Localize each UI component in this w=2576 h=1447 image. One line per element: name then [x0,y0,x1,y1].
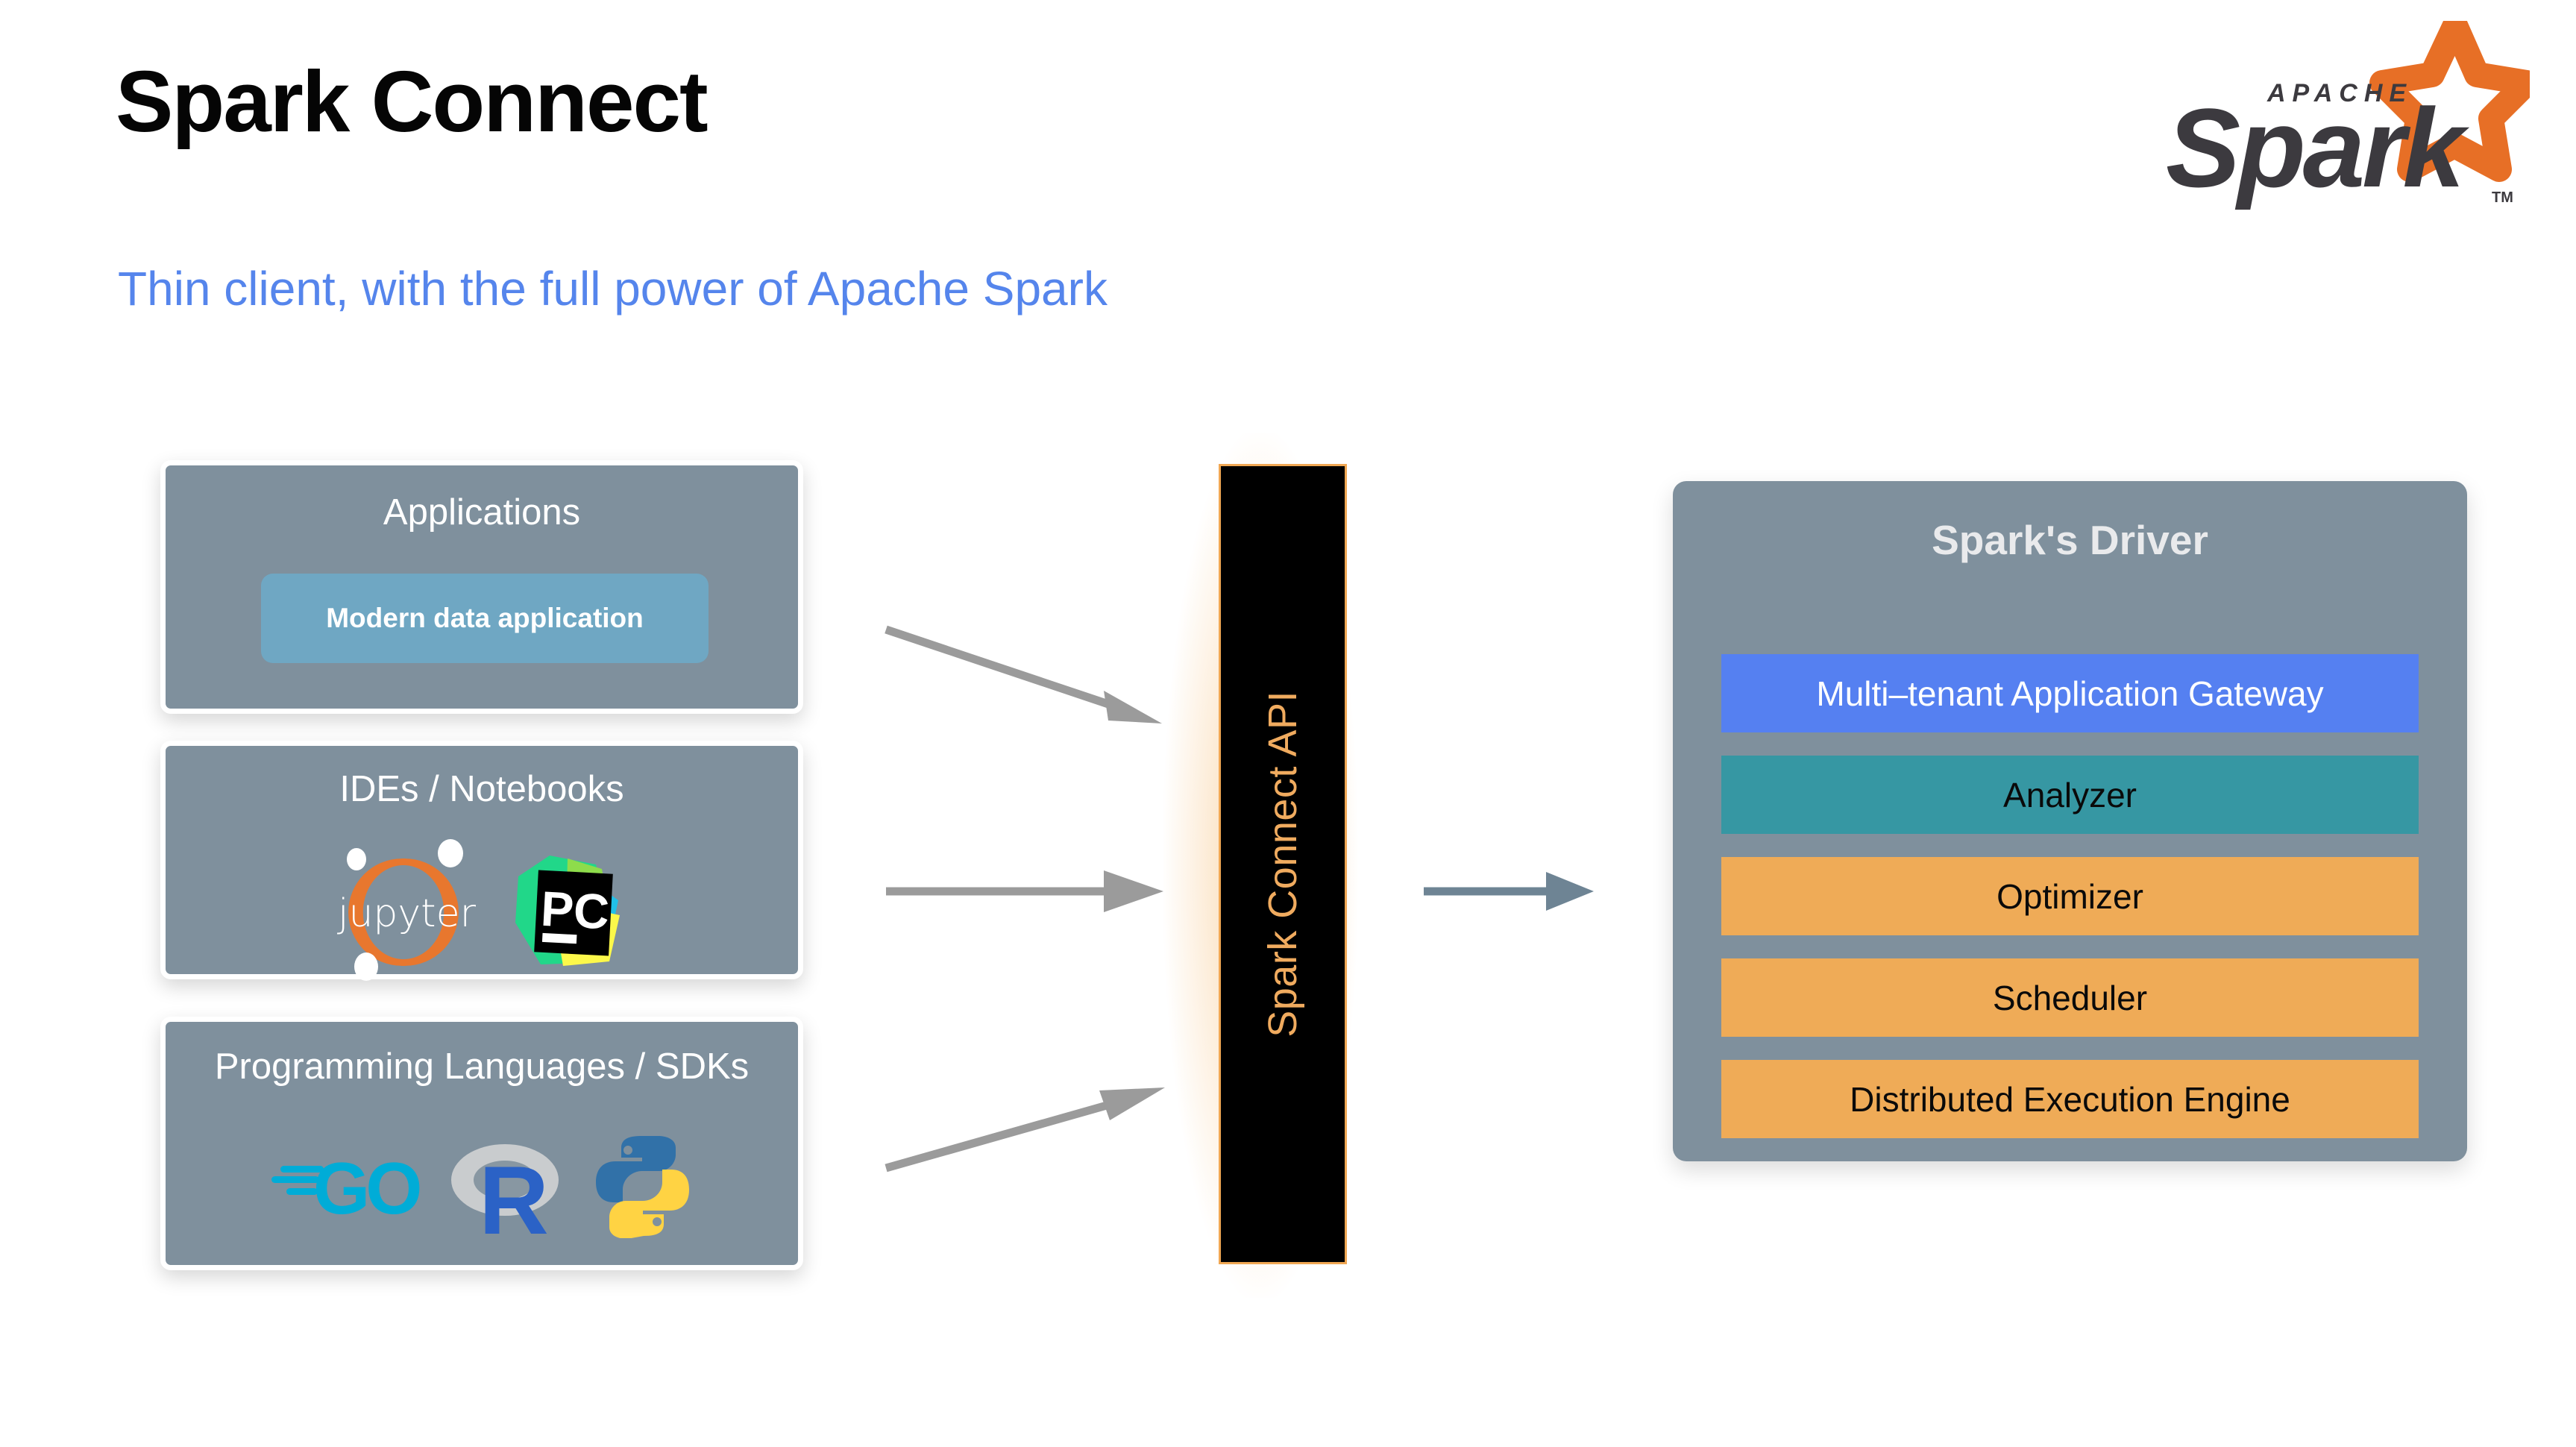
slide-canvas: Spark Connect Thin client, with the full… [0,0,2576,1447]
svg-text:APACHE: APACHE [2266,79,2413,107]
spark-driver-panel[interactable]: Spark's Driver Multi–tenant Application … [1673,481,2467,1161]
modern-data-application-chip[interactable]: Modern data application [261,574,709,663]
jupyter-wordmark: jupyter [338,894,469,933]
svg-text:TM: TM [2492,189,2513,206]
driver-row-scheduler[interactable]: Scheduler [1721,958,2419,1037]
apache-spark-logo: Spark APACHE TM [2157,21,2530,221]
svg-text:R: R [479,1146,549,1238]
jupyter-dot [347,848,366,870]
client-box-ides-notebooks[interactable]: IDEs / Notebooks jupyter PC [160,741,803,979]
pycharm-logo: PC [514,851,626,969]
driver-row-label: Multi–tenant Application Gateway [1816,677,2323,711]
page-title: Spark Connect [116,58,707,145]
spark-connect-api-label: Spark Connect API [1260,691,1306,1038]
jupyter-logo: jupyter [338,839,469,981]
driver-row-label: Distributed Execution Engine [1850,1082,2290,1117]
language-logo-row: GO R [166,1134,798,1238]
driver-row-multi-tenant-application-gateway[interactable]: Multi–tenant Application Gateway [1721,654,2419,732]
arrow-ides-to-api [880,861,1178,921]
jupyter-dot [438,839,463,867]
arrow-api-to-driver [1421,861,1607,921]
driver-row-distributed-execution-engine[interactable]: Distributed Execution Engine [1721,1060,2419,1138]
driver-row-analyzer[interactable]: Analyzer [1721,756,2419,834]
svg-text:GO: GO [313,1147,420,1227]
client-box-title: Programming Languages / SDKs [166,1046,798,1088]
page-subtitle: Thin client, with the full power of Apac… [118,265,1108,313]
r-logo: R [450,1134,562,1238]
client-box-title: IDEs / Notebooks [166,768,798,811]
go-logo: GO [271,1145,421,1227]
client-box-title: Applications [166,492,798,534]
spark-connect-api-bar[interactable]: Spark Connect API [1219,464,1347,1264]
driver-row-optimizer[interactable]: Optimizer [1721,857,2419,935]
jupyter-dot [354,952,378,981]
client-box-applications[interactable]: Applications Modern data application [160,460,803,714]
python-logo [592,1134,693,1238]
spark-driver-title: Spark's Driver [1673,520,2467,561]
arrow-languages-to-api [880,1044,1178,1178]
svg-text:PC: PC [539,881,610,940]
driver-row-label: Analyzer [2003,778,2137,812]
client-box-programming-languages[interactable]: Programming Languages / SDKs GO [160,1017,803,1270]
ide-logo-row: jupyter PC [166,839,798,981]
driver-row-label: Scheduler [1993,981,2147,1015]
driver-row-label: Optimizer [1997,879,2143,914]
arrow-applications-to-api [880,612,1178,731]
